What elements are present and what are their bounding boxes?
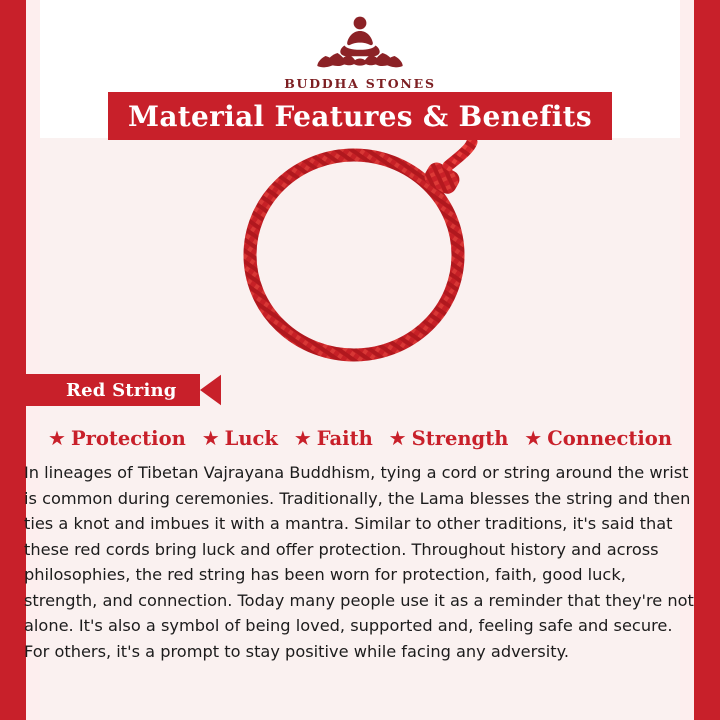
benefits-list: ★ Protection ★ Luck ★ Faith ★ Strength ★… bbox=[48, 422, 672, 454]
infographic-page: BUDDHA STONES Material Features & Benefi… bbox=[0, 0, 720, 720]
star-icon: ★ bbox=[294, 428, 312, 448]
page-title: Material Features & Benefits bbox=[128, 100, 592, 133]
star-icon: ★ bbox=[48, 428, 66, 448]
benefit-item: ★ Protection bbox=[48, 427, 186, 450]
lotus-meditation-icon bbox=[312, 12, 408, 74]
brand-name: BUDDHA STONES bbox=[0, 76, 720, 91]
benefit-item: ★ Strength bbox=[389, 427, 509, 450]
star-icon: ★ bbox=[389, 428, 407, 448]
benefit-label: Strength bbox=[412, 427, 509, 450]
benefit-item: ★ Luck bbox=[202, 427, 278, 450]
benefit-item: ★ Connection bbox=[524, 427, 672, 450]
title-banner: Material Features & Benefits bbox=[108, 92, 612, 140]
benefit-label: Luck bbox=[225, 427, 278, 450]
product-label-tag: Red String bbox=[26, 374, 221, 406]
decor-band-right-bottom bbox=[694, 300, 720, 720]
benefit-label: Connection bbox=[547, 427, 672, 450]
benefit-label: Protection bbox=[71, 427, 186, 450]
brand-logo: BUDDHA STONES bbox=[0, 12, 720, 91]
product-label-text: Red String bbox=[66, 380, 177, 401]
decor-band-left-bottom bbox=[0, 300, 26, 720]
red-string-bracelet-illustration bbox=[220, 140, 500, 372]
benefit-label: Faith bbox=[317, 427, 373, 450]
star-icon: ★ bbox=[524, 428, 542, 448]
description-text: In lineages of Tibetan Vajrayana Buddhis… bbox=[24, 460, 696, 706]
star-icon: ★ bbox=[202, 428, 220, 448]
benefit-item: ★ Faith bbox=[294, 427, 373, 450]
product-image bbox=[40, 140, 680, 372]
